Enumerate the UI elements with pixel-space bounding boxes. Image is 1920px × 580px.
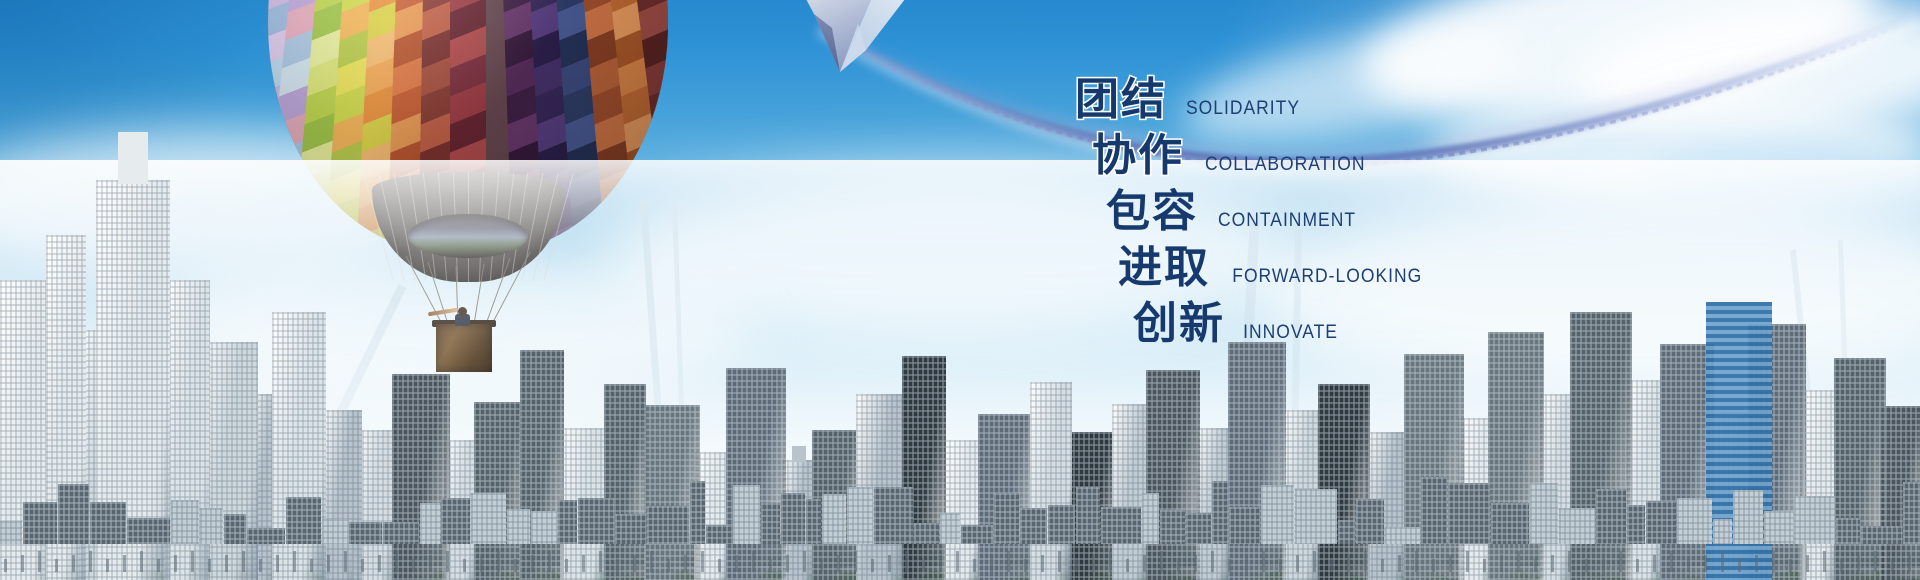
slogan-row-solidarity: 团结 SOLIDARITY — [1075, 78, 1305, 122]
bridge-pier — [72, 555, 75, 572]
low-rise-building — [1596, 489, 1626, 544]
bridge-pier — [752, 551, 755, 572]
bridge-pier — [888, 555, 891, 572]
bridge-pier — [191, 551, 194, 572]
slogan-row-containment: 包容 CONTAINMENT — [1106, 190, 1362, 234]
slogan-cn: 包容 — [1106, 190, 1198, 234]
bridge-pier — [1296, 555, 1299, 572]
bridge-pier — [1823, 551, 1826, 572]
bridge-pier — [1007, 551, 1010, 572]
bridge-pier — [905, 551, 908, 572]
bridge-pier — [1738, 559, 1741, 572]
bridge-pier — [106, 559, 109, 572]
slogan-en: SOLIDARITY — [1186, 98, 1300, 120]
low-rise-building — [1229, 507, 1260, 544]
bridge-pier — [735, 555, 738, 572]
bridge-pier — [1126, 559, 1129, 572]
bridge-pier — [1432, 559, 1435, 572]
bridge-pier — [463, 559, 466, 572]
low-rise-building — [420, 503, 440, 544]
bridge-pier — [599, 551, 602, 572]
bridge-pier — [293, 551, 296, 572]
low-rise-building — [1356, 499, 1384, 544]
bridge-pier — [1228, 559, 1231, 572]
bridge-pier — [123, 555, 126, 572]
low-rise-band — [0, 472, 1920, 544]
bridge-pier — [4, 559, 7, 572]
bridge-pier — [939, 555, 942, 572]
bridge-pier — [701, 551, 704, 572]
bridge-pier — [1857, 555, 1860, 572]
low-rise-building — [1160, 510, 1185, 544]
bridge-pier — [1483, 559, 1486, 572]
low-rise-building — [322, 519, 348, 544]
slogan-en: INNOVATE — [1243, 322, 1338, 344]
bridge-pier — [242, 551, 245, 572]
low-rise-building — [1646, 501, 1676, 544]
bridge-pier — [854, 551, 857, 572]
low-rise-building — [690, 481, 705, 544]
bridge-pier — [208, 559, 211, 572]
bridge-pier — [310, 559, 313, 572]
bridge-pier — [157, 559, 160, 572]
bridge-pier — [1245, 555, 1248, 572]
bridge-pier — [1534, 559, 1537, 572]
low-rise-building — [127, 518, 170, 544]
low-rise-building — [578, 498, 614, 544]
low-rise-building — [0, 521, 22, 544]
low-rise-building — [1142, 493, 1159, 544]
low-rise-building — [615, 514, 646, 544]
bridge-pier — [1806, 555, 1809, 572]
low-rise-building — [733, 485, 760, 544]
low-rise-building — [441, 498, 470, 544]
bridge-pier — [38, 551, 41, 572]
bridge-pier — [1874, 551, 1877, 572]
bridge-pier — [259, 559, 262, 572]
low-rise-building — [914, 523, 939, 544]
low-rise-building — [761, 503, 780, 544]
bridge-pier — [718, 559, 721, 572]
slogan-row-forward-looking: 进取 FORWARD-LOOKING — [1118, 246, 1431, 290]
low-rise-building — [1903, 482, 1920, 544]
low-rise-building — [531, 511, 557, 544]
bridge-pier — [1568, 551, 1571, 572]
bridge-pier — [1840, 559, 1843, 572]
low-rise-building — [171, 500, 199, 544]
bridge-pier — [803, 551, 806, 572]
bridge-pier — [1585, 559, 1588, 572]
bridge-pier — [1704, 555, 1707, 572]
low-rise-building — [1295, 489, 1337, 544]
low-rise-building — [1559, 508, 1595, 544]
bridge-pier — [1466, 551, 1469, 572]
bridge-pier — [1891, 559, 1894, 572]
bridge-pier — [140, 551, 143, 572]
bridge-pier — [820, 559, 823, 572]
low-rise-building — [1101, 507, 1141, 544]
bridge-pier — [973, 559, 976, 572]
low-rise-building — [781, 493, 805, 544]
bridge-pier — [922, 559, 925, 572]
bridge-pier — [582, 555, 585, 572]
low-rise-building — [58, 484, 89, 544]
bridge-pier — [1449, 555, 1452, 572]
low-rise-building — [507, 509, 530, 544]
bridge-pier — [837, 555, 840, 572]
low-rise-building — [847, 487, 873, 544]
bridge-pier — [55, 559, 58, 572]
bridge-pier — [1636, 559, 1639, 572]
bridge-pier — [1092, 555, 1095, 572]
bridge-pier — [1908, 555, 1911, 572]
bridge-pier — [1330, 559, 1333, 572]
low-rise-building — [940, 513, 960, 544]
bridge-pier — [616, 559, 619, 572]
bridge-pier — [344, 551, 347, 572]
bridge-pier — [531, 555, 534, 572]
bridge-pier — [1517, 551, 1520, 572]
bridge-pier — [361, 559, 364, 572]
bridge-pier — [21, 555, 24, 572]
low-rise-building — [1076, 487, 1100, 544]
bridge-pier — [1347, 555, 1350, 572]
bridge-pier — [956, 551, 959, 572]
low-rise-building — [224, 514, 246, 544]
bridge-pier — [1619, 551, 1622, 572]
low-rise-building — [1048, 505, 1075, 544]
bridge-pier — [565, 559, 568, 572]
bridge-pier — [276, 555, 279, 572]
slogan-cn: 团结 — [1075, 78, 1167, 122]
bridge-pier — [548, 551, 551, 572]
low-rise-building — [286, 497, 321, 544]
bridge-pier — [1670, 551, 1673, 572]
bridge-pier — [395, 551, 398, 572]
low-rise-building — [1020, 508, 1047, 544]
bridge-pier — [990, 555, 993, 572]
bridge-pier — [667, 559, 670, 572]
low-rise-building — [1212, 481, 1228, 544]
bridge-pier — [1772, 551, 1775, 572]
bridge-pier — [1551, 555, 1554, 572]
bridge-pier — [871, 559, 874, 572]
bridge-pier — [1602, 555, 1605, 572]
low-rise-building — [1448, 483, 1490, 544]
bridge-pier — [1500, 555, 1503, 572]
bridge-pier — [1075, 559, 1078, 572]
bridge-pier — [1381, 559, 1384, 572]
bridge-pier — [412, 559, 415, 572]
low-rise-building — [1836, 518, 1860, 544]
low-rise-building — [1186, 513, 1211, 544]
hero-banner: 团结 SOLIDARITY 协作 COLLABORATION 包容 CONTAI… — [0, 0, 1920, 580]
bridge-pier — [1687, 559, 1690, 572]
bridge-pier — [1364, 551, 1367, 572]
bridge-pier — [1160, 551, 1163, 572]
bridge-pier — [327, 555, 330, 572]
slogan-row-innovate: 创新 INNOVATE — [1133, 302, 1342, 346]
low-rise-building — [1491, 503, 1529, 544]
low-rise-building — [23, 502, 57, 544]
low-rise-building — [1338, 520, 1355, 544]
low-rise-building — [1627, 505, 1645, 544]
low-rise-building — [822, 494, 846, 544]
low-rise-building — [994, 493, 1019, 544]
slogan-cn: 协作 — [1092, 134, 1184, 178]
low-rise-building — [200, 508, 223, 544]
low-rise-building — [383, 522, 419, 544]
bridge-pier — [174, 555, 177, 572]
low-rise-building — [1261, 485, 1294, 544]
bridge-pier — [446, 551, 449, 572]
bridge-pier — [1143, 555, 1146, 572]
bridge-pier — [1058, 551, 1061, 572]
bridge-pier — [1024, 559, 1027, 572]
slogan-cn: 进取 — [1118, 246, 1210, 290]
bridge-pier — [1653, 555, 1656, 572]
bridge-pier — [514, 559, 517, 572]
low-rise-building — [1794, 496, 1835, 544]
low-rise-building — [647, 506, 689, 544]
low-rise-building — [1733, 490, 1763, 544]
slogan-en: FORWARD-LOOKING — [1232, 266, 1422, 288]
bridge-pier — [650, 551, 653, 572]
bridge-pier — [480, 555, 483, 572]
slogan-en: COLLABORATION — [1205, 154, 1365, 176]
bridge-pier — [1177, 559, 1180, 572]
bridge-pier — [1755, 555, 1758, 572]
bridge-pier — [1789, 559, 1792, 572]
slogan-en: CONTAINMENT — [1218, 210, 1356, 232]
bridge-pier — [378, 555, 381, 572]
low-rise-building — [806, 499, 821, 544]
bridge-pier — [1194, 555, 1197, 572]
bridge-pier — [1313, 551, 1316, 572]
bridge-pier — [1279, 559, 1282, 572]
slogan-cn: 创新 — [1133, 302, 1225, 346]
bridge-pier — [225, 555, 228, 572]
bridge-pier — [1415, 551, 1418, 572]
bridge-pier — [684, 555, 687, 572]
low-rise-building — [1421, 477, 1447, 544]
bridge-pier — [786, 555, 789, 572]
low-rise-building — [874, 487, 913, 544]
low-rise-building — [1764, 511, 1793, 544]
bridge-pier — [1211, 551, 1214, 572]
bridge-pier — [633, 555, 636, 572]
low-rise-building — [90, 502, 126, 544]
bridge-pier — [497, 551, 500, 572]
low-rise-building — [1713, 519, 1732, 544]
low-rise-building — [471, 493, 506, 544]
low-rise-building — [1677, 498, 1712, 544]
low-rise-building — [1530, 483, 1558, 544]
bridge-pier — [1109, 551, 1112, 572]
low-rise-building — [349, 522, 382, 544]
bridge-truss — [0, 542, 1920, 572]
bridge-pier — [1721, 551, 1724, 572]
bridge-pier — [429, 555, 432, 572]
bridge-pier — [1398, 555, 1401, 572]
bridge-pier — [769, 559, 772, 572]
bridge-pier — [1041, 555, 1044, 572]
bridge-pier — [89, 551, 92, 572]
low-rise-building — [558, 500, 577, 544]
slogan-row-collaboration: 协作 COLLABORATION — [1092, 134, 1372, 178]
bridge-pier — [1262, 551, 1265, 572]
